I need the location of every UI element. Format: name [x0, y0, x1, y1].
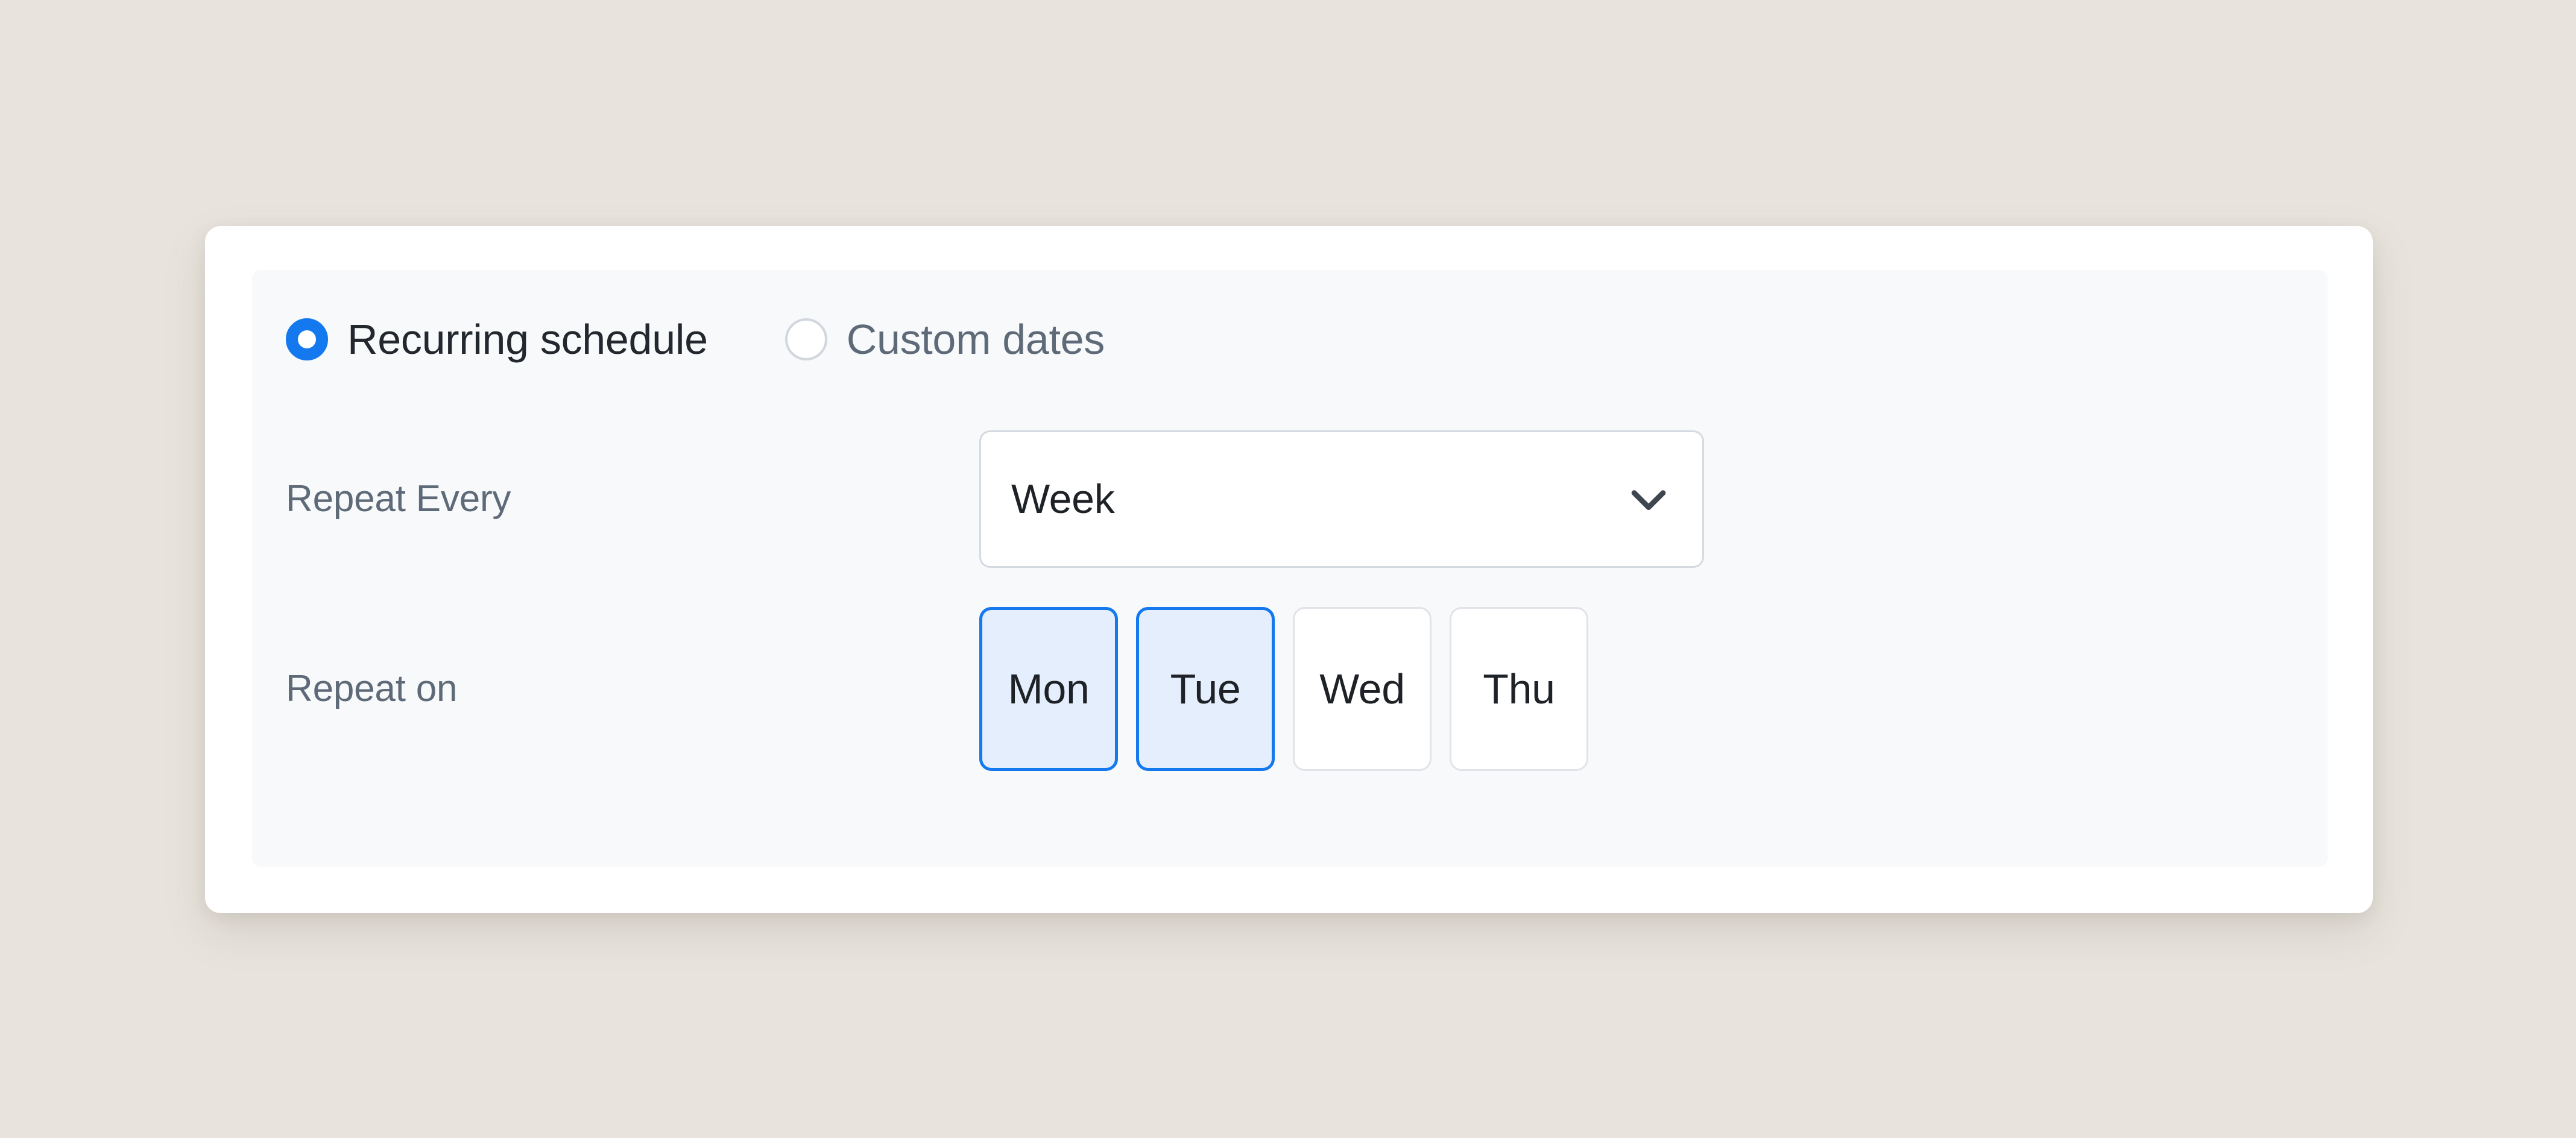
schedule-card: Recurring schedule Custom dates Repeat E… — [205, 226, 2373, 913]
radio-label-recurring-schedule: Recurring schedule — [347, 318, 708, 360]
repeat-on-day-group: Mon Tue Wed Thu — [979, 607, 1588, 771]
radio-option-custom-dates[interactable]: Custom dates — [785, 270, 1105, 409]
repeat-every-select[interactable]: Week — [979, 430, 1704, 568]
repeat-every-label: Repeat Every — [286, 480, 979, 518]
repeat-on-label: Repeat on — [286, 670, 979, 708]
schedule-settings-panel: Recurring schedule Custom dates Repeat E… — [252, 270, 2328, 867]
radio-button-custom-dates-icon[interactable] — [785, 318, 827, 360]
repeat-on-row: Repeat on Mon Tue Wed Thu — [252, 589, 2328, 788]
radio-button-recurring-schedule-icon[interactable] — [286, 318, 328, 360]
chevron-down-icon — [1624, 474, 1673, 524]
radio-label-custom-dates: Custom dates — [847, 318, 1105, 360]
day-toggle-mon[interactable]: Mon — [979, 607, 1118, 771]
day-toggle-thu[interactable]: Thu — [1450, 607, 1588, 771]
radio-option-recurring-schedule[interactable]: Recurring schedule — [286, 270, 708, 409]
day-toggle-wed[interactable]: Wed — [1293, 607, 1432, 771]
repeat-every-selected-value: Week — [1011, 479, 1114, 520]
schedule-mode-row: Recurring schedule Custom dates — [252, 270, 2328, 409]
repeat-every-row: Repeat Every Week — [252, 409, 2328, 589]
day-toggle-tue[interactable]: Tue — [1136, 607, 1275, 771]
